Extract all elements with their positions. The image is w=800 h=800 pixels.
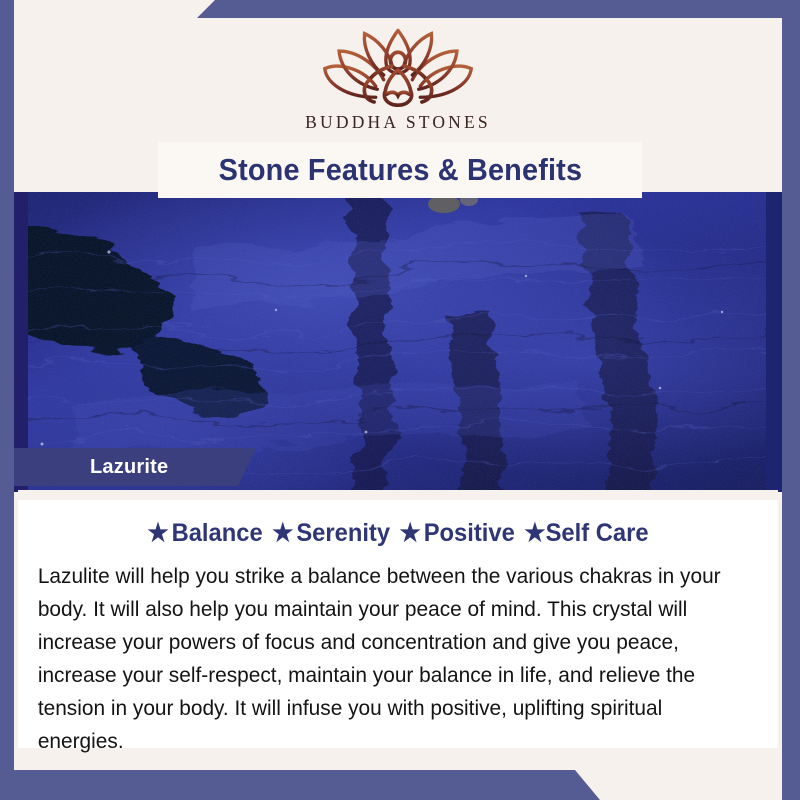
feature-keyword-0: ★Balance [147,518,262,548]
stone-name-ribbon: Lazurite [14,448,256,486]
stone-info-poster: BUDDHA STONES Stone Features & Benefits [0,0,800,800]
feature-keywords: ★Balance★Serenity★Positive★Self Care [50,518,745,548]
star-icon: ★ [272,518,293,548]
lazurite-stone-image [14,192,782,492]
star-icon: ★ [147,518,168,548]
content-panel: ★Balance★Serenity★Positive★Self Care Laz… [18,490,778,748]
lotus-meditation-icon [318,24,478,110]
star-icon: ★ [400,518,421,548]
frame-left-edge [0,0,14,800]
page-title: Stone Features & Benefits [218,152,582,188]
title-banner: Stone Features & Benefits [158,142,642,198]
brand-header: BUDDHA STONES [14,18,782,148]
feature-keyword-1: ★Serenity [272,518,390,548]
feature-label-2: Positive [424,519,515,547]
feature-label-0: Balance [172,519,263,547]
frame-top-right-accent [0,0,800,18]
photo-left-frame-sliver [14,192,28,492]
feature-keyword-2: ★Positive [400,518,515,548]
brand-name: BUDDHA STONES [305,112,491,133]
feature-label-3: Self Care [546,519,649,547]
frame-bottom-left-accent [0,770,800,800]
description-text: Lazulite will help you strike a balance … [32,560,742,758]
panel-top-strip [18,490,778,500]
feature-keyword-3: ★Self Care [524,518,648,548]
stone-photo [14,192,782,492]
stone-name: Lazurite [14,456,168,479]
photo-right-frame-sliver [766,192,782,492]
frame-right-edge [782,0,800,800]
feature-label-1: Serenity [296,519,390,547]
star-icon: ★ [524,518,545,548]
